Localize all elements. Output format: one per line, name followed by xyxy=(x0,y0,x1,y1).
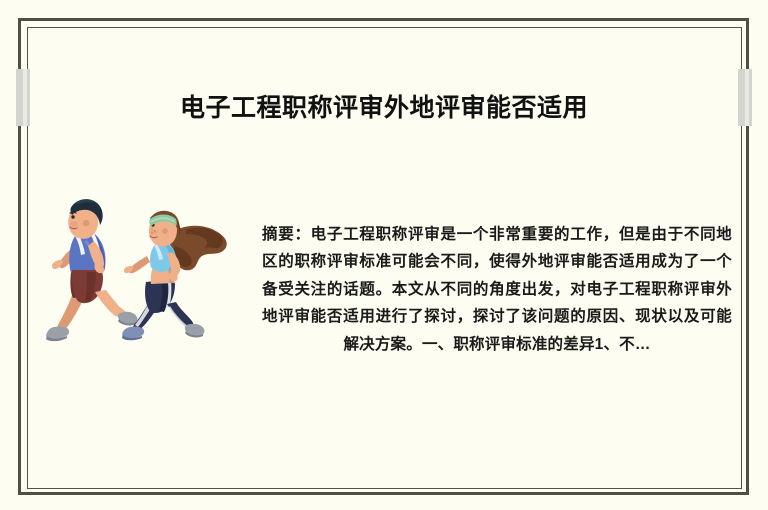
male-runner xyxy=(46,199,138,341)
female-runner xyxy=(122,211,227,341)
article-card: 电子工程职称评审外地评审能否适用 xyxy=(0,0,768,510)
article-abstract: 摘要：电子工程职称评审是一个非常重要的工作，但是由于不同地区的职称评审标准可能会… xyxy=(262,221,732,359)
page-title: 电子工程职称评审外地评审能否适用 xyxy=(0,91,768,125)
two-runners-illustration xyxy=(34,186,244,361)
